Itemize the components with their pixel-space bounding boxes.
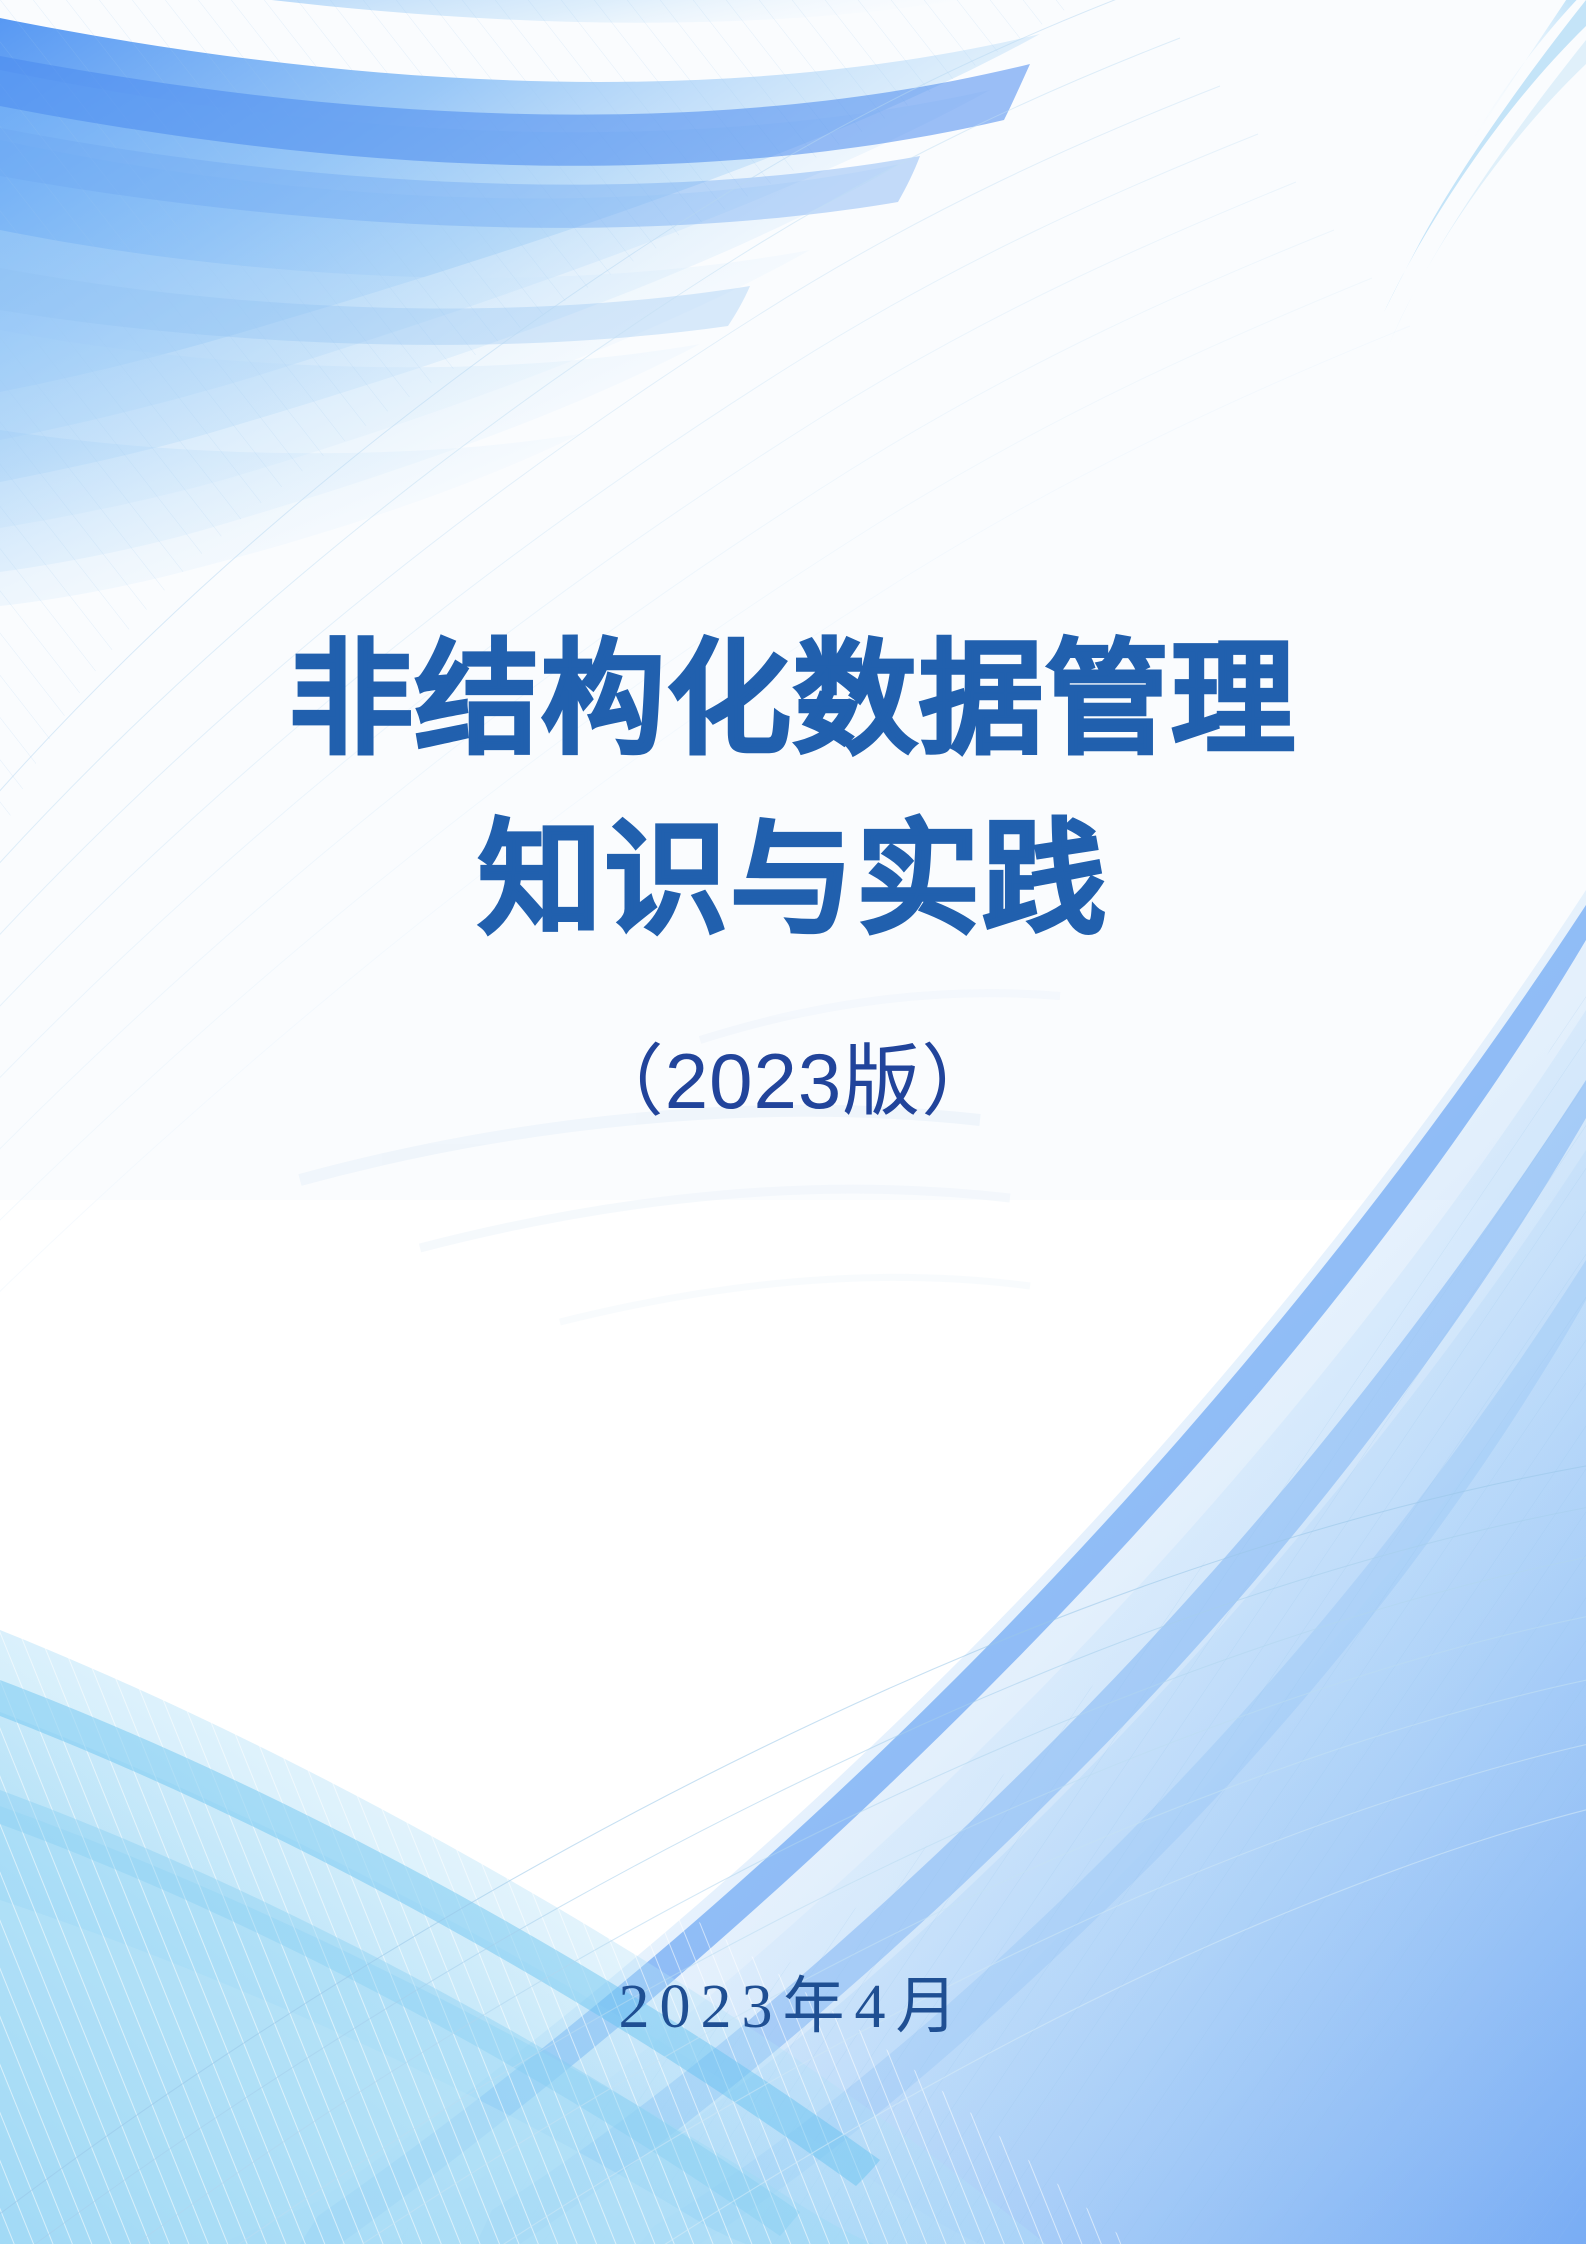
title-line-2: 知识与实践 xyxy=(0,818,1586,942)
page-title: 非结构化数据管理 知识与实践 xyxy=(0,638,1586,942)
cover-text-block: 非结构化数据管理 知识与实践 （2023版） 2023年4月 xyxy=(0,0,1586,2244)
title-line-1: 非结构化数据管理 xyxy=(0,638,1586,762)
edition-subtitle: （2023版） xyxy=(0,1042,1586,1120)
cover-page: 非结构化数据管理 知识与实践 （2023版） 2023年4月 xyxy=(0,0,1586,2244)
publication-date: 2023年4月 xyxy=(0,1976,1586,2038)
